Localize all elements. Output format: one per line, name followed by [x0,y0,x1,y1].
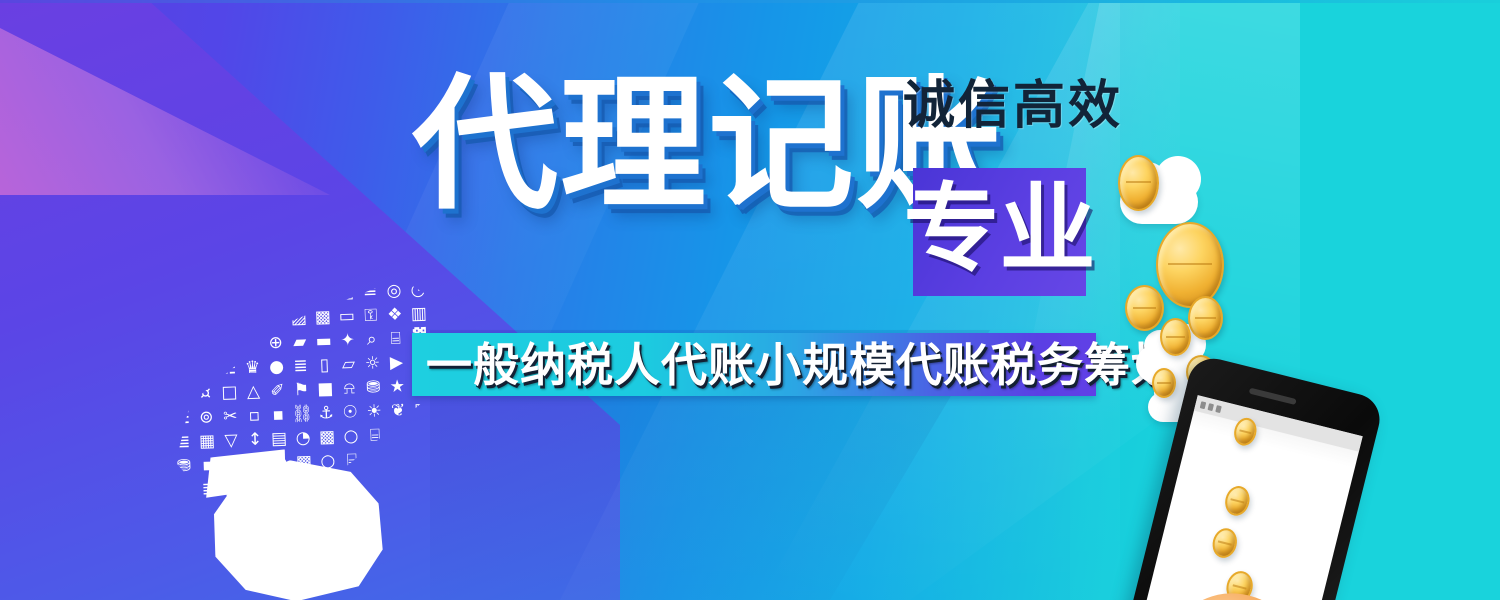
service-item-0: 一般纳税人代账 [426,342,755,388]
chain-icon: ⛓ [291,403,314,426]
cloud-puff [1155,156,1201,202]
pen-icon: ✐ [266,380,289,403]
sort-icon: ↕ [244,428,267,451]
tagline-credibility: 诚信高效 [903,80,1123,132]
megaphone-illustration: $☰⚙▤▦⌗⊞▣≡◎◔⊟⚒⚖☁◷▨▩▭⚿❖▥↗⊛○✉⊕▰▬✦⌕⌸▓⌂◎☷♛●≣▯… [170,282,470,600]
screen-gold-coin-icon [1210,526,1241,561]
mail-icon: ✉ [240,332,263,355]
service-item-1: 小规模代账 [755,342,990,388]
decorative-icon: ¤ [412,423,435,446]
cash-icon: ¤ [194,382,217,405]
trophy-icon: ♛ [241,356,264,379]
sun-icon: ☀ [363,400,386,423]
clock-icon: ◷ [264,308,287,331]
lock-icon: ○ [216,333,239,356]
globe-icon: ⊕ [264,332,287,355]
decorative-icon: ⌸ [341,449,364,472]
gold-coin-icon [1160,318,1191,356]
folder-icon: ▭ [335,305,358,328]
decorative-icon: ▤ [415,518,438,536]
clipboard-icon: ⊟ [168,311,191,334]
flag-icon: ⚑ [290,379,313,402]
badge-icon: ✦ [336,329,359,352]
monitor-icon: ▯ [313,354,336,377]
gold-coin-icon [1188,296,1223,340]
banner-root: $☰⚙▤▦⌗⊞▣≡◎◔⊟⚒⚖☁◷▨▩▭⚿❖▥↗⊛○✉⊕▰▬✦⌕⌸▓⌂◎☷♛●≣▯… [0,0,1500,600]
hammer-icon: ⚒ [192,310,215,333]
shield-icon: ❖ [383,303,406,326]
decorative-icon: ⛃ [389,471,412,494]
coin-icon: ◎ [383,279,406,302]
calendar-icon: ▥ [407,303,430,326]
megaphone-icon: ▶ [385,351,408,374]
calculator-icon: ⌗ [287,283,310,306]
decorative-icon: ⛃ [412,447,435,470]
stamp-icon: ⊚ [195,406,218,429]
search-icon: ⌕ [360,328,383,351]
plug-icon: ▪ [267,404,290,427]
status-badge-label: 专业 [904,181,1096,277]
wifi-icon [1208,403,1215,411]
signal-icon [1200,401,1207,409]
briefcase-icon: ▤ [239,284,262,307]
decorative-icon: ≣ [365,448,388,471]
decorative-icon: ≣ [174,503,197,526]
decorative-icon: ¤ [388,447,411,470]
bell-icon: ⍾ [338,377,361,400]
battery-icon: ▫ [243,404,266,427]
pie-chart-icon: ◔ [407,279,430,302]
decorative-icon: ≣ [388,423,411,446]
gold-coin-icon [1125,285,1164,331]
ruler-icon: △ [242,380,265,403]
scale-icon: ⚖ [216,309,239,332]
screen-gold-coin-icon [1222,483,1253,518]
phone-icon: ≡ [359,280,382,303]
gold-coin-icon [1156,222,1224,308]
decorative-icon: ▪ [413,470,436,493]
wallet-icon: ▨ [288,307,311,330]
graph-up-icon: ↗ [168,335,191,358]
leaf-icon: ❦ [387,399,410,422]
dollar-icon: $ [167,287,190,310]
decorative-icon: ▤ [175,527,198,537]
decorative-icon: ▪ [390,495,413,518]
laptop-icon: ▱ [337,353,360,376]
phone-speaker [1249,388,1297,405]
phone-status-bar [1194,395,1363,452]
decorative-icon: ▤ [268,428,291,451]
compass-icon: ☉ [339,401,362,424]
battery-icon [1215,405,1222,413]
star-icon: ★ [386,375,409,398]
percent-icon: % [170,383,193,406]
decorative-icon: ¤ [365,472,388,495]
filter-icon: ▽ [220,429,243,452]
service-list-bar: 一般纳税人代账 小规模代账 税务筹划 [412,333,1096,396]
book-icon: ☷ [217,357,240,380]
document-icon: ▦ [263,284,286,307]
chart-bar-icon: ☰ [191,286,214,309]
decorative-icon: ≣ [414,494,437,517]
decorative-icon: ▪ [173,479,196,502]
cube-icon: ■ [314,378,337,401]
decorative-icon: ⛃ [173,455,196,478]
decorative-icon: ▩ [316,426,339,449]
drop-icon: ● [265,356,288,379]
lightbulb-icon: ☁ [240,308,263,331]
gold-coin-icon [1152,368,1176,398]
gold-coin-icon [1118,155,1159,211]
safe-icon: □ [218,381,241,404]
grid-icon: ▦ [196,430,219,453]
decorative-icon: ⌸ [364,424,387,447]
handshake-icon: ⊛ [192,334,215,357]
cart-icon: ⛃ [362,376,385,399]
ledger-icon: ☲ [171,407,194,430]
house-icon: ⌂ [169,359,192,382]
bank-icon: ⊞ [311,282,334,305]
printer-icon: ⌸ [384,327,407,350]
person-icon: ▣ [335,281,358,304]
bulb-icon: ☼ [361,352,384,375]
stack-icon: ≣ [289,355,312,378]
decorative-icon: ≣ [391,519,414,536]
status-badge: 专业 [913,168,1086,296]
key-icon: ⚿ [359,304,382,327]
table-icon: ▦ [411,399,434,422]
gear-icon: ⚙ [215,285,238,308]
anchor-icon: ⚓ [315,402,338,425]
list-icon: ≣ [172,431,195,454]
receipt-icon: ▩ [312,306,335,329]
decorative-icon: ○ [340,425,363,448]
scissors-icon: ✂ [219,405,242,428]
card-icon: ▬ [312,330,335,353]
target-icon: ◎ [193,358,216,381]
decorative-icon: ◔ [292,427,315,450]
background-top-edge [0,0,1500,3]
tag-icon: ▰ [288,331,311,354]
